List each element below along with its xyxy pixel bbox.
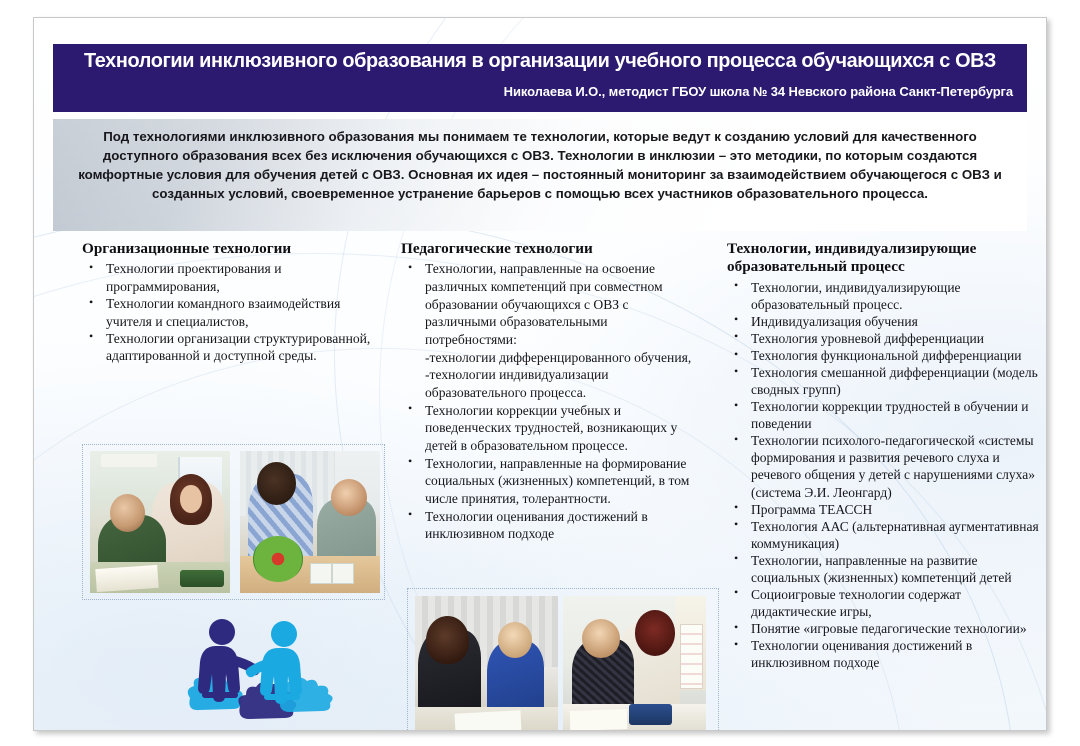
list-item: Технологии проектирования и программиров…	[82, 260, 382, 295]
list-item: Технологии коррекции учебных и поведенче…	[401, 402, 701, 455]
list-item: Технология функциональной дифференциации	[727, 347, 1045, 364]
list-item: Социоигровые технологии содержат дидакти…	[727, 586, 1045, 620]
list-item: Технологии психолого-педагогической «сис…	[727, 432, 1045, 500]
list-item-sub: -технологии дифференцированного обучения…	[401, 349, 701, 367]
slide-canvas: Технологии инклюзивного образования в ор…	[33, 17, 1047, 731]
intro-band: Под технологиями инклюзивного образовани…	[53, 119, 1027, 231]
column-title: Организационные технологии	[82, 240, 382, 258]
list-item: Технологии, направленные на развитие соц…	[727, 552, 1045, 586]
list-item: Технологии оценивания достижений в инклю…	[401, 508, 701, 543]
photo-teacher-boy-cards: Педагог с мальчиком, дидактические карто…	[240, 451, 380, 593]
list-item: Технология смешанной дифференциации (мод…	[727, 364, 1045, 398]
column-title: Педагогические технологии	[401, 240, 701, 258]
list-item: Технология уровневой дифференциации	[727, 330, 1045, 347]
list-item-sub: -технологии индивидуализации образовател…	[401, 366, 701, 401]
column-pedagogical-technologies: Педагогические технологии Технологии, на…	[401, 240, 701, 543]
column-organizational-technologies: Организационные технологии Технологии пр…	[82, 240, 382, 365]
list-item: Индивидуализация обучения	[727, 313, 1045, 330]
column-bullet-list: Технологии, направленные на освоение раз…	[401, 260, 701, 543]
column-title: Технологии, индивидуализирующие образова…	[727, 240, 1045, 277]
column-bullet-list: Технологии, индивидуализирующие образова…	[727, 279, 1045, 671]
list-item: Понятие «игровые педагогические технолог…	[727, 620, 1045, 637]
photo-teacher-boy-writing: Учитель помогает мальчику писать в тетра…	[90, 451, 230, 593]
inclusive-children-icon: Две фигурки детей на пазлах, символ инкл…	[174, 610, 352, 722]
intro-paragraph: Под технологиями инклюзивного образовани…	[53, 119, 1027, 204]
column-individualizing-technologies: Технологии, индивидуализирующие образова…	[727, 240, 1045, 671]
list-item: Технологии, направленные на формирование…	[401, 455, 701, 508]
list-item: Программа ТЕАССН	[727, 501, 1045, 518]
list-item: Технологии оценивания достижений в инклю…	[727, 637, 1045, 671]
photo-two-women-worksheets: Два педагога работают с рабочими листами	[415, 596, 558, 731]
page-title: Технологии инклюзивного образования в ор…	[68, 49, 1013, 73]
list-item: Технологии командного взаимодействия учи…	[82, 295, 382, 330]
list-item: Технологии коррекции трудностей в обучен…	[727, 398, 1045, 432]
header-band: Технологии инклюзивного образования в ор…	[53, 44, 1027, 112]
photo-teacher-boy-reading: Педагог занимается с мальчиком, азбука н…	[563, 596, 706, 731]
author-subtitle: Николаева И.О., методист ГБОУ школа № 34…	[504, 84, 1013, 99]
column-bullet-list: Технологии проектирования и программиров…	[82, 260, 382, 364]
list-item: Технологии организации структурированной…	[82, 330, 382, 365]
list-item: Технологии, индивидуализирующие образова…	[727, 279, 1045, 313]
list-item: Технология ААС (альтернативная аугментат…	[727, 518, 1045, 552]
list-item: Технологии, направленные на освоение раз…	[401, 260, 701, 348]
